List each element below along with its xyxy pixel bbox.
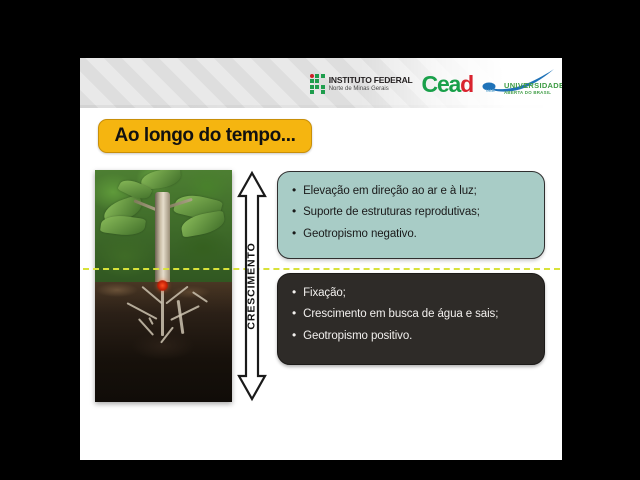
list-item: • Fixação; (292, 286, 530, 300)
institution-logo-row: INSTITUTO FEDERAL Norte de Minas Gerais … (310, 62, 556, 106)
instituto-federal-grid-icon (310, 74, 325, 95)
cead-logo: Cead (422, 73, 473, 96)
instituto-federal-line2: Norte de Minas Gerais (329, 86, 413, 92)
root-functions-box: • Fixação; • Crescimento em busca de águ… (277, 273, 545, 365)
bullet-dot-icon: • (292, 227, 296, 241)
shoot-functions-box: • Elevação em direção ao ar e à luz; • S… (277, 171, 545, 259)
uab-wordmark: UNIVERSIDADE ABERTA DO BRASIL (504, 82, 562, 95)
growth-double-arrow-icon (236, 170, 268, 402)
photo-root (161, 290, 164, 336)
uab-mark-text: UAB (486, 88, 495, 93)
bullet-dot-icon: • (292, 329, 296, 343)
video-letterbox-stage: INSTITUTO FEDERAL Norte de Minas Gerais … (0, 0, 640, 480)
bullet-dot-icon: • (292, 184, 296, 198)
cead-letter-d: d (460, 71, 473, 97)
list-item-label: Fixação; (303, 286, 346, 300)
list-item-label: Crescimento em busca de água e sais; (303, 307, 498, 321)
plant-roots-photo (95, 170, 232, 402)
uab-logo: UAB UNIVERSIDADE ABERTA DO BRASIL (482, 67, 556, 101)
instituto-federal-line1: INSTITUTO FEDERAL (329, 76, 413, 85)
wifi-arc-icon (435, 74, 443, 82)
list-item: • Geotropismo negativo. (292, 227, 530, 241)
list-item: • Crescimento em busca de água e sais; (292, 307, 530, 321)
list-item-label: Geotropismo negativo. (303, 227, 417, 241)
photo-trunk (155, 192, 170, 290)
bullet-dot-icon: • (292, 286, 296, 300)
soil-level-dashed-line (83, 268, 560, 270)
uab-line1: UNIVERSIDADE (504, 82, 562, 90)
bullet-dot-icon: • (292, 205, 296, 219)
list-item-label: Geotropismo positivo. (303, 329, 412, 343)
instituto-federal-logo: INSTITUTO FEDERAL Norte de Minas Gerais (310, 74, 413, 95)
presentation-slide: INSTITUTO FEDERAL Norte de Minas Gerais … (80, 58, 562, 460)
uab-line2: ABERTA DO BRASIL (504, 91, 562, 95)
slide-title-banner: Ao longo do tempo... (98, 119, 312, 153)
bullet-dot-icon: • (292, 307, 296, 321)
page-title: Ao longo do tempo... (115, 125, 296, 147)
list-item: • Elevação em direção ao ar e à luz; (292, 184, 530, 198)
list-item: • Suporte de estruturas reprodutivas; (292, 205, 530, 219)
list-item-label: Elevação em direção ao ar e à luz; (303, 184, 477, 198)
photo-root-collar-glow (157, 280, 168, 291)
list-item: • Geotropismo positivo. (292, 329, 530, 343)
cead-letter-a: a (449, 71, 461, 97)
instituto-federal-wordmark: INSTITUTO FEDERAL Norte de Minas Gerais (329, 76, 413, 92)
list-item-label: Suporte de estruturas reprodutivas; (303, 205, 480, 219)
